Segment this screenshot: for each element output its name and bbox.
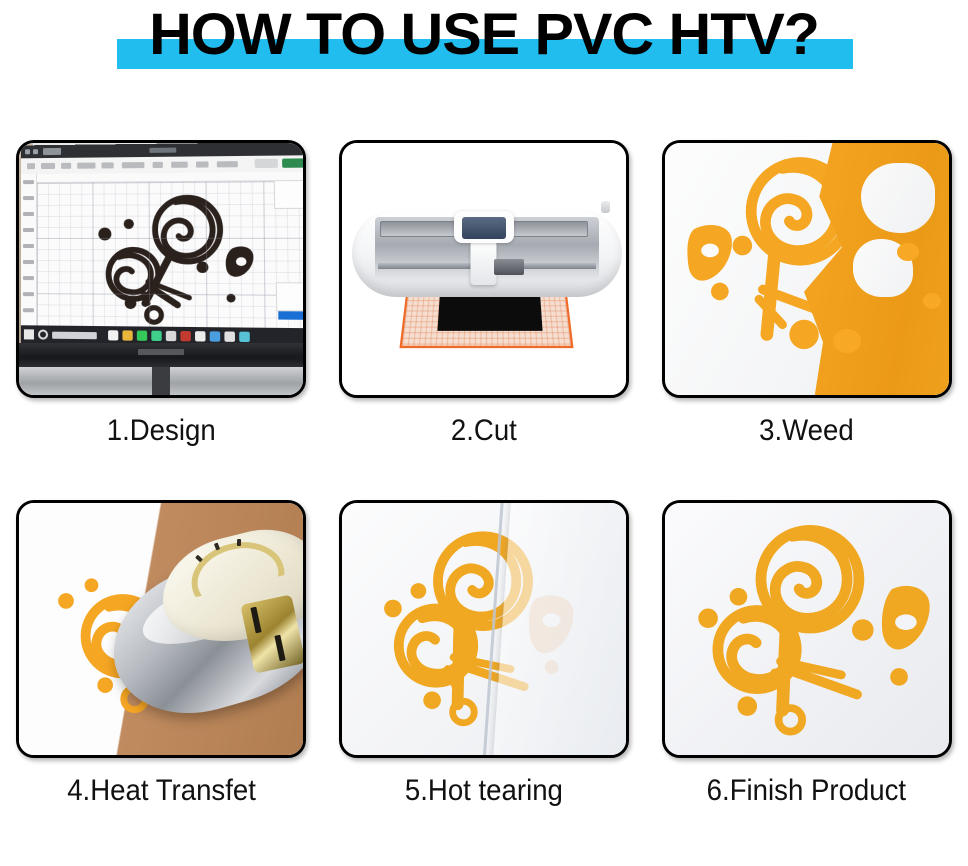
step-image-design (16, 140, 306, 398)
monitor-screen (21, 142, 306, 347)
lollipop-artwork-orange-final (665, 503, 949, 755)
weeded-area (861, 163, 935, 233)
properties-panel[interactable] (274, 180, 306, 209)
vinyl-dot (833, 329, 861, 353)
step-card-hot-tearing: 5.Hot tearing (323, 500, 646, 860)
design-canvas[interactable] (37, 181, 306, 328)
step-card-heat-transfer: 4.Heat Transfet (0, 500, 323, 860)
taskbar-app-icon (195, 331, 206, 341)
carrier-sheet[interactable] (492, 500, 629, 758)
step-card-design: 1.Design (0, 140, 323, 500)
monitor-stand (152, 367, 170, 397)
taskbar-app-icon (166, 331, 176, 341)
taskbar-app-icon (181, 331, 192, 341)
step-image-weed (662, 140, 952, 398)
step-image-finish-product (662, 500, 952, 758)
machine-lcd-screen[interactable] (462, 217, 506, 239)
taskbar-app-icon (123, 330, 133, 340)
step-image-cut (339, 140, 629, 398)
taskbar-app-icon (225, 331, 236, 341)
status-highlight (279, 311, 307, 320)
page-header: HOW TO USE PVC HTV? (0, 0, 968, 120)
monitor-brand-logo (138, 349, 184, 355)
step-image-hot-tearing (339, 500, 629, 758)
machine-knob[interactable] (601, 201, 610, 213)
machine-carriage (470, 241, 496, 285)
toolbar-primary-button[interactable] (282, 158, 306, 168)
step-caption-weed: 3.Weed (759, 414, 854, 448)
taskbar-app-icon (137, 331, 147, 341)
step-caption-design: 1.Design (107, 414, 216, 448)
machine-roller-right (510, 221, 588, 237)
taskbar-app-icon (108, 330, 118, 340)
taskbar-app-icon (152, 331, 162, 341)
steps-grid: 1.Design 2.Cut (0, 140, 968, 860)
step-caption-heat-transfer: 4.Heat Transfet (67, 774, 256, 808)
vinyl-dot (923, 293, 941, 309)
page-title: HOW TO USE PVC HTV? (0, 0, 968, 70)
toolbar-secondary-button[interactable] (255, 159, 278, 168)
step-caption-finish-product: 6.Finish Product (707, 774, 906, 808)
lollipop-artwork-black (37, 181, 306, 328)
machine-roller-left (380, 221, 458, 237)
step-caption-hot-tearing: 5.Hot tearing (405, 774, 563, 808)
step-caption-cut: 2.Cut (451, 414, 517, 448)
vinyl-dot (897, 243, 919, 261)
taskbar-app-icon (239, 332, 250, 342)
step-card-cut: 2.Cut (323, 140, 646, 500)
cutting-blade-head (494, 259, 524, 275)
step-image-heat-transfer (16, 500, 306, 758)
cortana-search-icon[interactable] (38, 329, 48, 339)
monitor-bezel (19, 343, 303, 367)
dial-mark (237, 539, 241, 546)
windows-start-icon[interactable] (24, 329, 34, 339)
step-card-weed: 3.Weed (645, 140, 968, 500)
layers-panel[interactable] (276, 282, 306, 311)
canvas-ruler-vertical (21, 174, 37, 325)
taskbar-app-icon (210, 331, 221, 341)
step-card-finish-product: 6.Finish Product (645, 500, 968, 860)
taskbar-search-text (52, 332, 97, 340)
